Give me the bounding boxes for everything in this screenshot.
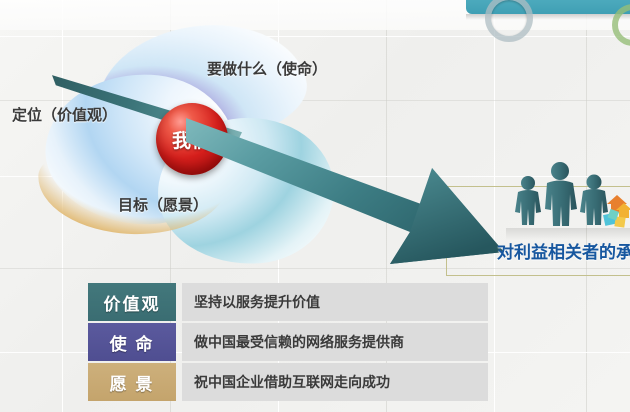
person-icon — [515, 176, 541, 225]
table-row: 价值观 坚持以服务提升价值 — [88, 283, 488, 321]
person-icon — [545, 162, 577, 226]
spoke-label-vision: 目标（愿景） — [118, 194, 208, 215]
table-row: 愿 景 祝中国企业借助互联网走向成功 — [88, 363, 488, 401]
row-description: 祝中国企业借助互联网走向成功 — [182, 363, 488, 401]
row-description: 坚持以服务提升价值 — [182, 283, 488, 321]
table-row: 使 命 做中国最受信赖的网络服务提供商 — [88, 323, 488, 361]
values-table: 价值观 坚持以服务提升价值 使 命 做中国最受信赖的网络服务提供商 愿 景 祝中… — [88, 283, 488, 403]
row-tag: 使 命 — [88, 323, 176, 361]
row-tag: 价值观 — [88, 283, 176, 321]
row-description: 做中国最受信赖的网络服务提供商 — [182, 323, 488, 361]
stakeholder-caption: 对利益相关者的承 — [497, 238, 630, 263]
row-tag: 愿 景 — [88, 363, 176, 401]
big-arrow — [184, 116, 514, 266]
spoke-label-values: 定位（价值观） — [12, 104, 117, 125]
slide-canvas: 我们 要做什么（使命） 定位（价值观） 目标（愿景） — [0, 0, 630, 412]
spoke-label-mission: 要做什么（使命） — [207, 58, 327, 79]
stakeholder-figures — [512, 160, 630, 240]
